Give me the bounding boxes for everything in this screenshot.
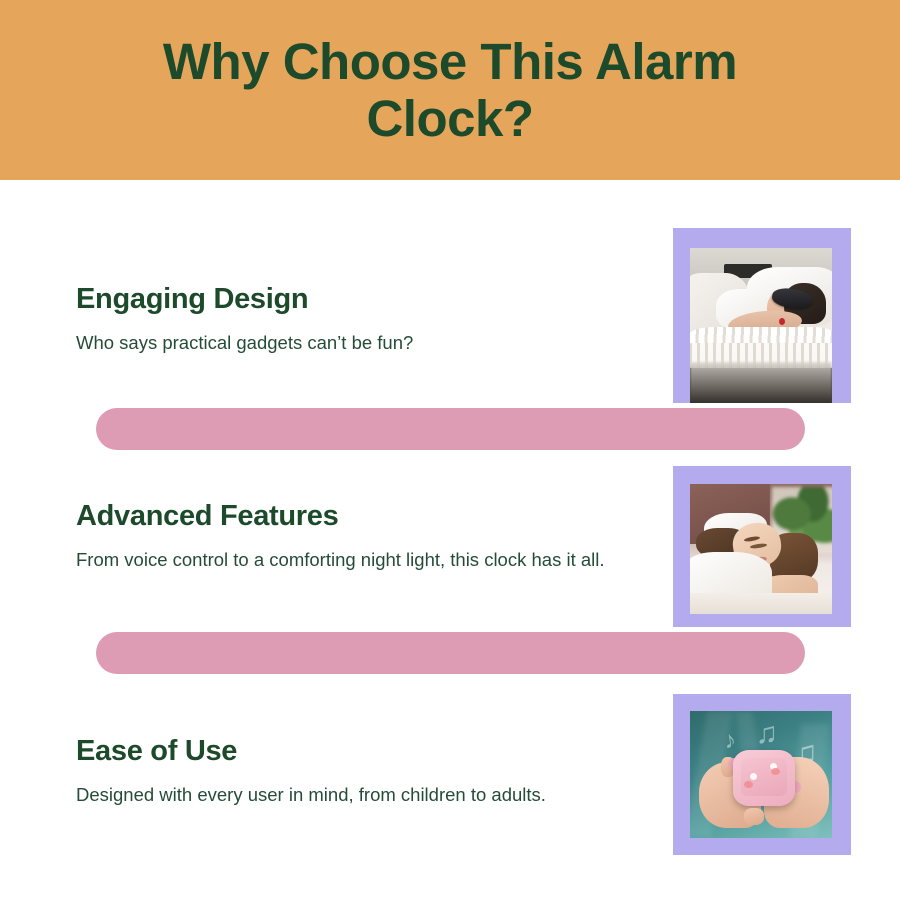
photo-frame-advanced-features xyxy=(673,466,851,632)
pink-pill-divider xyxy=(96,632,805,674)
page-title-line-1: Why Choose This Alarm xyxy=(163,33,737,90)
feature-block-advanced-features: Advanced Features From voice control to … xyxy=(76,500,636,574)
feature-block-ease-of-use: Ease of Use Designed with every user in … xyxy=(76,735,636,809)
music-note-icon: ♫ xyxy=(755,719,778,749)
feature-block-engaging-design: Engaging Design Who says practical gadge… xyxy=(76,283,636,357)
photo-engaging-design xyxy=(690,248,832,406)
pink-pill-divider xyxy=(96,408,805,450)
photo-advanced-features xyxy=(690,484,832,614)
feature-body: Designed with every user in mind, from c… xyxy=(76,782,621,809)
feature-body: Who says practical gadgets can’t be fun? xyxy=(76,330,621,357)
page-title: Why Choose This Alarm Clock? xyxy=(100,33,800,147)
photo-ease-of-use: ♪ ♫ ♫ ♪ ♫ xyxy=(690,711,832,838)
infographic-page: Why Choose This Alarm Clock? xyxy=(0,0,900,923)
feature-heading: Engaging Design xyxy=(76,283,636,316)
photo-frame-ease-of-use: ♪ ♫ ♫ ♪ ♫ xyxy=(673,694,851,855)
feature-heading: Advanced Features xyxy=(76,500,636,533)
page-title-line-2: Clock? xyxy=(366,90,533,147)
feature-body: From voice control to a comforting night… xyxy=(76,547,621,574)
music-note-icon: ♪ xyxy=(722,728,737,753)
photo-frame-engaging-design xyxy=(673,228,851,426)
feature-heading: Ease of Use xyxy=(76,735,636,768)
header-banner: Why Choose This Alarm Clock? xyxy=(0,0,900,180)
